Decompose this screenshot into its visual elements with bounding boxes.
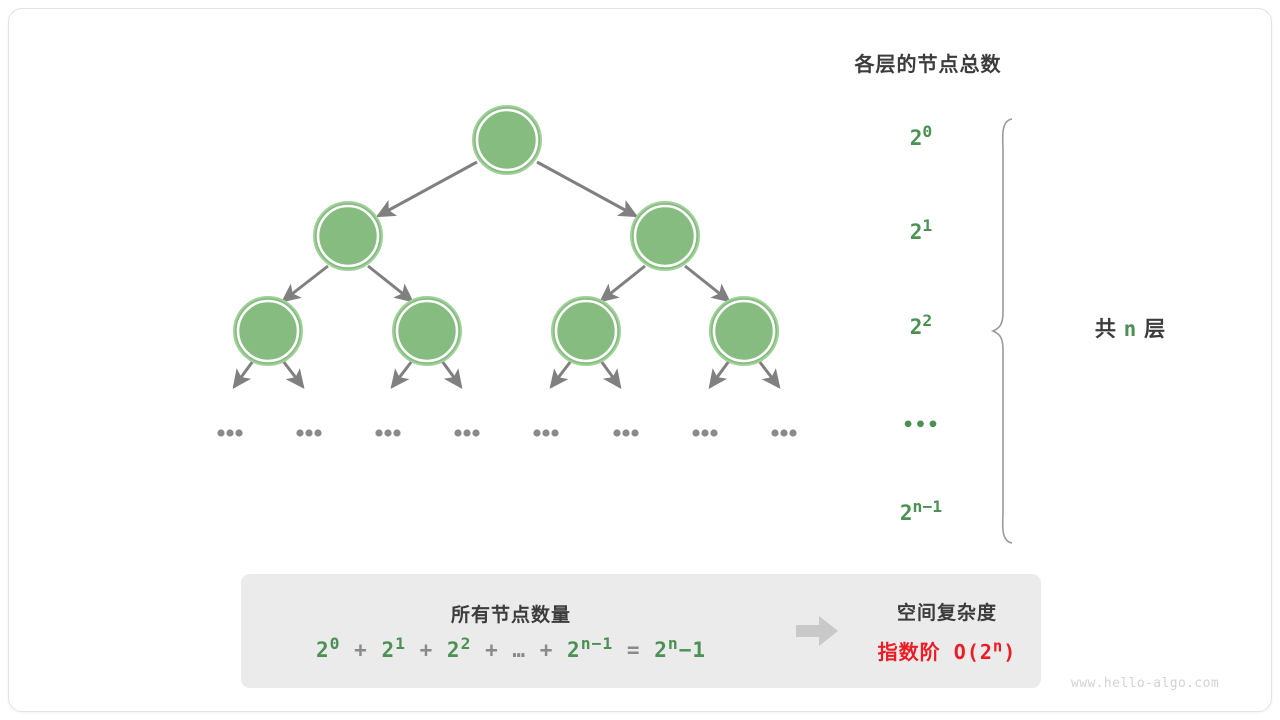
level-count-label-0: 20: [861, 126, 981, 150]
level-count-base: 2: [910, 315, 923, 339]
complexity-order-name: 指数阶: [878, 642, 941, 664]
complexity-big-o: O(2n): [954, 640, 1017, 664]
total-levels-suffix: 层: [1144, 318, 1165, 341]
formula-caption: 所有节点数量: [451, 600, 571, 627]
leaf-ellipsis: [296, 429, 321, 436]
leaf-ellipsis: [454, 429, 479, 436]
formula-left-section: 所有节点数量 20 + 21 + 22 + … + 2n−1 = 2n−1: [241, 600, 781, 662]
term-2-pow-0: 20: [316, 638, 341, 662]
right-arrow-icon: [794, 614, 840, 648]
tree-node: [710, 297, 778, 365]
complexity-value: 指数阶 O(2n): [878, 636, 1017, 665]
level-count-label-2: 22: [861, 315, 981, 339]
tree-edges: [234, 162, 779, 387]
term-result-2-pow-n-minus-1: 2n−1: [654, 638, 706, 662]
level-count-ellipsis: •••: [861, 414, 981, 436]
tree-node: [314, 202, 382, 270]
leaf-ellipsis: [533, 429, 558, 436]
leaf-ellipsis: [771, 429, 796, 436]
term-2-pow-2: 22: [447, 638, 472, 662]
level-count-exponent: 2: [922, 311, 932, 330]
level-count-exponent: n−1: [913, 497, 943, 516]
tree-nodes: [234, 106, 778, 365]
total-levels-prefix: 共: [1095, 318, 1116, 341]
leaf-ellipsis: [375, 429, 400, 436]
tree-node: [552, 297, 620, 365]
equals-operator: =: [627, 638, 641, 662]
formula-right-section: 空间复杂度 指数阶 O(2n): [853, 598, 1041, 665]
tree-node: [393, 297, 461, 365]
leaf-ellipses: [217, 429, 796, 436]
leaf-ellipsis: [613, 429, 638, 436]
level-count-exponent: 1: [922, 216, 932, 235]
leaf-ellipsis: [692, 429, 717, 436]
level-count-base: 2: [910, 220, 923, 244]
plus-operator: +: [420, 638, 434, 662]
complexity-caption: 空间复杂度: [897, 598, 997, 625]
level-count-base: 2: [900, 501, 913, 525]
level-count-label-1: 21: [861, 220, 981, 244]
term-2-pow-1: 21: [381, 638, 406, 662]
tree-node: [234, 297, 302, 365]
diagram-canvas: 各层的节点总数 20 21 22 ••• 2n−1 共 n 层 所有节点数量 2…: [0, 0, 1280, 720]
plus-operator: +: [485, 638, 499, 662]
expression-ellipsis: …: [512, 638, 526, 662]
formula-arrow-section: [781, 614, 853, 648]
plus-operator: +: [540, 638, 554, 662]
level-count-exponent: 0: [922, 122, 932, 141]
formula-expression: 20 + 21 + 22 + … + 2n−1 = 2n−1: [316, 638, 706, 662]
leaf-ellipsis: [217, 429, 242, 436]
total-levels-variable: n: [1122, 317, 1139, 341]
level-count-base: 2: [910, 126, 923, 150]
tree-node: [631, 202, 699, 270]
total-levels-label: 共 n 层: [1040, 313, 1220, 343]
term-2-pow-n-minus-1: 2n−1: [567, 638, 613, 662]
level-count-label-last: 2n−1: [861, 501, 981, 525]
watermark: www.hello-algo.com: [1071, 676, 1219, 691]
formula-box: 所有节点数量 20 + 21 + 22 + … + 2n−1 = 2n−1 空间…: [241, 574, 1041, 688]
tree-node: [473, 106, 541, 174]
page-title: 各层的节点总数: [838, 48, 1018, 77]
plus-operator: +: [354, 638, 368, 662]
levels-brace: [993, 119, 1012, 543]
